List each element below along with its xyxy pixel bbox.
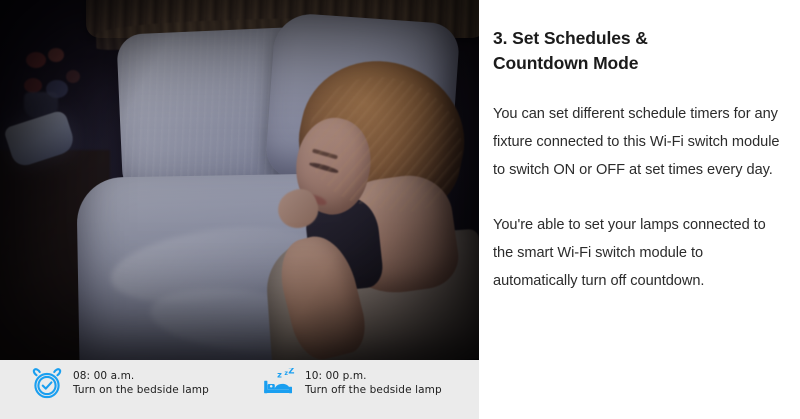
alarm-clock-check-icon: [30, 368, 64, 400]
sleeping-bed-icon: z z Z: [262, 368, 296, 400]
bedroom-photo: [0, 0, 479, 360]
svg-text:z: z: [277, 369, 282, 379]
svg-text:Z: Z: [288, 368, 294, 376]
flower-petal: [66, 70, 80, 83]
text-panel: 3. Set Schedules & Countdown Mode You ca…: [479, 0, 800, 419]
schedule-item-night: z z Z 10: 00 p.m. Turn off the bedside l…: [262, 368, 442, 400]
schedule-item-morning: 08: 00 a.m. Turn on the bedside lamp: [30, 368, 240, 400]
media-panel: 08: 00 a.m. Turn on the bedside lamp z z…: [0, 0, 479, 419]
section-paragraph-1: You can set different schedule timers fo…: [493, 100, 789, 184]
schedule-text-morning: 08: 00 a.m. Turn on the bedside lamp: [73, 368, 209, 397]
schedule-description: Turn off the bedside lamp: [305, 383, 442, 397]
flower-petal: [48, 48, 64, 62]
schedule-text-night: 10: 00 p.m. Turn off the bedside lamp: [305, 368, 442, 397]
flower-petal: [24, 78, 42, 93]
section-heading: 3. Set Schedules & Countdown Mode: [493, 26, 743, 76]
schedule-caption-bar: 08: 00 a.m. Turn on the bedside lamp z z…: [0, 360, 479, 419]
schedule-description: Turn on the bedside lamp: [73, 383, 209, 397]
flower-petal: [26, 52, 46, 68]
schedule-time: 08: 00 a.m.: [73, 369, 209, 383]
schedule-time: 10: 00 p.m.: [305, 369, 442, 383]
product-feature-section: 08: 00 a.m. Turn on the bedside lamp z z…: [0, 0, 800, 419]
section-paragraph-2: You're able to set your lamps connected …: [493, 211, 789, 295]
